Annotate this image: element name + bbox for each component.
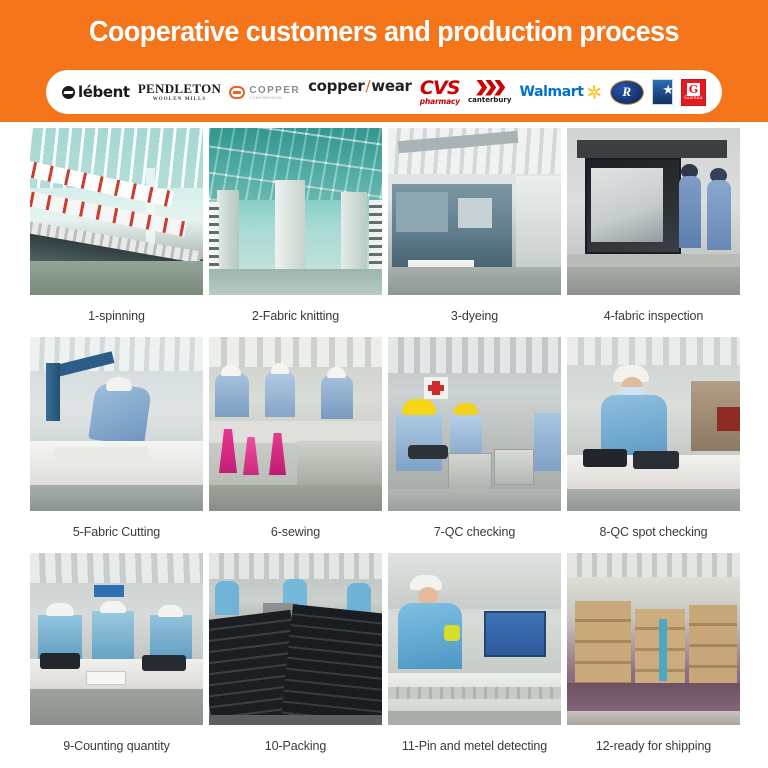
logo-lebent-text: lébent [78,83,130,101]
process-step-11: 11-Pin and metel detecting [388,553,561,767]
photo-counting-quantity-tables [30,553,203,725]
logo-walmart: Walmart [520,77,602,107]
canterbury-chevrons-icon [476,79,503,96]
caption-step-3: 3-dyeing [388,295,561,337]
photo-cartons-ready-for-shipping [567,553,740,725]
process-step-6: 6-sewing [209,337,382,553]
logo-gushou-text: G [687,83,700,96]
photo-dyeing-machine-hall [388,128,561,295]
logo-copperwear-separator: / [365,77,372,95]
logo-gushou-subtext: Gushou [684,96,702,102]
process-step-10: 10-Packing [209,553,382,767]
page-root: Cooperative customers and production pro… [0,0,768,768]
logo-pendleton-subtext: WOOLEN MILLS [153,96,207,103]
header-banner: Cooperative customers and production pro… [0,0,768,122]
process-step-2: 2-Fabric knitting [209,128,382,337]
gushou-box-icon: G Gushou [681,79,706,106]
caption-step-7: 7-QC checking [388,511,561,553]
customer-logo-bar: lébent PENDLETON WOOLEN MILLS COPPER COM… [46,70,722,114]
photo-qc-checking-line [388,337,561,511]
caption-step-2: 2-Fabric knitting [209,295,382,337]
photo-fabric-knitting-machines [209,128,382,295]
process-step-3: 3-dyeing [388,128,561,337]
logo-reebok: R [610,77,644,107]
production-process-grid: 1-spinning 2-Fabric knitting 3-dyeing [30,128,740,767]
logo-copper-text: COPPER [249,85,300,96]
logo-copper: COPPER COMPRESSION [229,77,300,107]
photo-metal-detector-conveyor [388,553,561,725]
photo-fabric-cutting-table [30,337,203,511]
process-step-4: 4-fabric inspection [567,128,740,337]
logo-canterbury-text: canterbury [468,96,511,105]
caption-step-5: 5-Fabric Cutting [30,511,203,553]
grid-row: 1-spinning 2-Fabric knitting 3-dyeing [30,128,740,337]
logo-copperwear-right: wear [371,77,411,95]
caption-step-6: 6-sewing [209,511,382,553]
grid-row: 9-Counting quantity 10-Packing 11-Pin an… [30,553,740,767]
grid-row: 5-Fabric Cutting 6-sewing [30,337,740,553]
logo-cvs-subtext: pharmacy [420,97,460,106]
reebok-oval-icon: R [610,80,644,105]
process-step-1: 1-spinning [30,128,203,337]
logo-gushou: G Gushou [681,77,706,107]
logo-pendleton-text: PENDLETON [138,82,221,95]
process-step-5: 5-Fabric Cutting [30,337,203,553]
copper-oval-icon [229,86,245,99]
caption-step-1: 1-spinning [30,295,203,337]
logo-copperwear-left: copper [308,77,364,95]
process-step-9: 9-Counting quantity [30,553,203,767]
process-step-12: 12-ready for shipping [567,553,740,767]
photo-sewing-line-yarn-cones [209,337,382,511]
lebent-circle-slash-icon [62,86,75,99]
photo-fabric-inspection-lightbox [567,128,740,295]
caption-step-8: 8-QC spot checking [567,511,740,553]
process-step-8: 8-QC spot checking [567,337,740,553]
photo-qc-spot-checking-table [567,337,740,511]
photo-packing-stacked-boxes [209,553,382,725]
blue-star-badge-icon: ★ [652,79,673,105]
process-step-7: 7-QC checking [388,337,561,553]
page-title: Cooperative customers and production pro… [27,15,741,49]
caption-step-9: 9-Counting quantity [30,725,203,767]
logo-cvs: CVS pharmacy [420,77,460,107]
logo-copper-subtext: COMPRESSION [249,96,300,100]
walmart-spark-icon [587,85,602,100]
logo-canterbury: canterbury [468,77,511,107]
logo-lebent: lébent [62,77,130,107]
caption-step-10: 10-Packing [209,725,382,767]
logo-star-badge: ★ [652,77,673,107]
logo-pendleton: PENDLETON WOOLEN MILLS [138,77,221,107]
logo-copperwear: copper / wear [308,77,412,107]
logo-cvs-text: CVS [420,79,460,97]
logo-walmart-text: Walmart [520,84,584,100]
caption-step-4: 4-fabric inspection [567,295,740,337]
photo-spinning-mill-yarn-spools [30,128,203,295]
caption-step-12: 12-ready for shipping [567,725,740,767]
caption-step-11: 11-Pin and metel detecting [388,725,561,767]
